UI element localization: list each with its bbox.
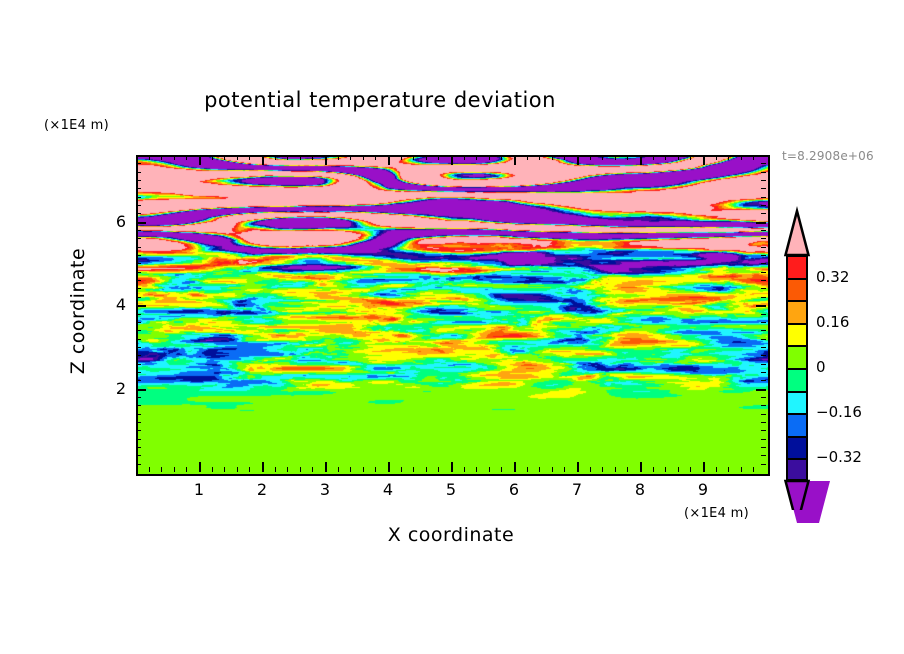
axis-tick — [136, 205, 141, 206]
axis-tick — [186, 467, 187, 472]
page-title: potential temperature deviation — [0, 88, 760, 112]
axis-tick — [761, 430, 766, 431]
y-axis-title: Z coordinate — [67, 211, 89, 411]
axis-tick — [136, 172, 141, 173]
axis-tick — [690, 155, 691, 160]
axis-tick — [136, 180, 141, 181]
axis-tick — [426, 467, 427, 472]
axis-tick — [476, 467, 477, 472]
axis-tick — [741, 155, 742, 160]
axis-tick — [728, 155, 729, 160]
x-axis-title: X coordinate — [271, 524, 631, 546]
axis-tick — [325, 462, 327, 472]
axis-tick — [761, 422, 766, 423]
axis-tick — [761, 314, 766, 315]
axis-tick — [136, 447, 141, 448]
axis-tick — [136, 380, 141, 381]
x-axis-unit-label: (×1E4 m) — [684, 506, 749, 521]
axis-tick — [653, 155, 654, 160]
axis-tick — [262, 462, 264, 472]
axis-tick — [476, 155, 477, 160]
axis-tick — [602, 155, 603, 160]
axis-tick — [761, 397, 766, 398]
axis-tick — [741, 467, 742, 472]
axis-tick — [761, 439, 766, 440]
axis-tick — [363, 155, 364, 160]
axis-tick — [761, 347, 766, 348]
axis-tick — [136, 197, 141, 198]
axis-tick — [161, 467, 162, 472]
axis-tick — [703, 462, 705, 472]
axis-tick — [577, 155, 579, 165]
axis-tick — [149, 467, 150, 472]
y-tick-label: 2 — [96, 379, 126, 398]
axis-tick — [224, 155, 225, 160]
axis-tick — [426, 155, 427, 160]
axis-tick — [186, 155, 187, 160]
axis-tick — [501, 155, 502, 160]
y-tick-label: 4 — [96, 295, 126, 314]
axis-tick — [761, 355, 766, 356]
axis-tick — [627, 467, 628, 472]
axis-tick — [338, 467, 339, 472]
axis-tick — [539, 467, 540, 472]
axis-tick — [590, 467, 591, 472]
axis-tick — [237, 155, 238, 160]
axis-tick — [262, 155, 264, 165]
axis-tick — [136, 322, 141, 323]
axis-tick — [761, 205, 766, 206]
axis-tick — [136, 397, 141, 398]
contour-field-canvas — [138, 157, 768, 474]
axis-tick — [275, 155, 276, 160]
axis-tick — [350, 155, 351, 160]
axis-tick — [514, 155, 516, 165]
axis-tick — [199, 462, 201, 472]
x-tick-label: 4 — [373, 480, 403, 499]
axis-tick — [665, 467, 666, 472]
axis-tick — [761, 230, 766, 231]
axis-tick — [287, 467, 288, 472]
colorbar-label: 0.16 — [816, 313, 849, 331]
axis-tick — [300, 155, 301, 160]
axis-tick — [761, 263, 766, 264]
x-tick-label: 7 — [562, 480, 592, 499]
timestamp-annotation: t=8.2908e+06 — [782, 149, 874, 163]
axis-tick — [136, 297, 141, 298]
axis-tick — [136, 222, 146, 224]
y-tick-label: 6 — [96, 212, 126, 231]
axis-tick — [136, 263, 141, 264]
axis-tick — [761, 464, 766, 465]
y-axis-unit-label: (×1E4 m) — [44, 118, 109, 133]
axis-tick — [761, 372, 766, 373]
axis-tick — [756, 222, 766, 224]
axis-tick — [761, 172, 766, 173]
x-tick-label: 9 — [688, 480, 718, 499]
axis-tick — [527, 467, 528, 472]
axis-tick — [602, 467, 603, 472]
axis-tick — [756, 389, 766, 391]
axis-tick — [136, 255, 141, 256]
axis-tick — [464, 467, 465, 472]
axis-tick — [753, 467, 754, 472]
axis-tick — [136, 272, 141, 273]
axis-tick — [388, 462, 390, 472]
axis-tick — [136, 464, 141, 465]
axis-tick — [338, 155, 339, 160]
axis-tick — [451, 155, 453, 165]
axis-tick — [761, 297, 766, 298]
axis-tick — [136, 339, 141, 340]
axis-tick — [615, 467, 616, 472]
axis-tick — [761, 405, 766, 406]
axis-tick — [678, 155, 679, 160]
axis-tick — [761, 280, 766, 281]
axis-tick — [401, 155, 402, 160]
x-tick-label: 8 — [625, 480, 655, 499]
axis-tick — [413, 155, 414, 160]
axis-tick — [136, 439, 141, 440]
axis-tick — [761, 197, 766, 198]
axis-tick — [375, 155, 376, 160]
axis-tick — [552, 467, 553, 472]
axis-tick — [464, 155, 465, 160]
colorbar-label: −0.16 — [816, 403, 862, 421]
axis-tick — [756, 305, 766, 307]
axis-tick — [136, 455, 141, 456]
axis-tick — [136, 422, 141, 423]
axis-tick — [564, 155, 565, 160]
axis-tick — [275, 467, 276, 472]
axis-tick — [249, 467, 250, 472]
axis-tick — [136, 163, 141, 164]
axis-tick — [761, 364, 766, 365]
axis-tick — [249, 155, 250, 160]
axis-tick — [174, 155, 175, 160]
axis-tick — [653, 467, 654, 472]
x-tick-label: 1 — [184, 480, 214, 499]
axis-tick — [761, 455, 766, 456]
axis-tick — [136, 389, 146, 391]
axis-tick — [136, 414, 141, 415]
axis-tick — [690, 467, 691, 472]
colorbar-outline — [780, 198, 820, 510]
axis-tick — [716, 467, 717, 472]
axis-tick — [300, 467, 301, 472]
axis-tick — [149, 155, 150, 160]
axis-tick — [136, 230, 141, 231]
axis-tick — [325, 155, 327, 165]
axis-tick — [136, 305, 146, 307]
axis-tick — [161, 155, 162, 160]
axis-tick — [136, 330, 141, 331]
axis-tick — [136, 372, 141, 373]
axis-tick — [761, 380, 766, 381]
axis-tick — [577, 462, 579, 472]
axis-tick — [438, 155, 439, 160]
axis-tick — [761, 238, 766, 239]
axis-tick — [136, 364, 141, 365]
axis-tick — [761, 288, 766, 289]
axis-tick — [388, 155, 390, 165]
axis-tick — [590, 155, 591, 160]
axis-tick — [136, 347, 141, 348]
axis-tick — [136, 238, 141, 239]
axis-tick — [451, 462, 453, 472]
axis-tick — [413, 467, 414, 472]
axis-tick — [761, 180, 766, 181]
colorbar-label: −0.32 — [816, 448, 862, 466]
axis-tick — [552, 155, 553, 160]
axis-tick — [753, 155, 754, 160]
axis-tick — [224, 467, 225, 472]
axis-tick — [527, 155, 528, 160]
axis-tick — [761, 447, 766, 448]
axis-tick — [761, 247, 766, 248]
axis-tick — [564, 467, 565, 472]
axis-tick — [375, 467, 376, 472]
axis-tick — [237, 467, 238, 472]
axis-tick — [728, 467, 729, 472]
axis-tick — [136, 430, 141, 431]
axis-tick — [665, 155, 666, 160]
axis-tick — [136, 314, 141, 315]
axis-tick — [212, 467, 213, 472]
axis-tick — [312, 467, 313, 472]
axis-tick — [761, 330, 766, 331]
axis-tick — [136, 188, 141, 189]
axis-tick — [312, 155, 313, 160]
axis-tick — [136, 280, 141, 281]
axis-tick — [703, 155, 705, 165]
axis-tick — [539, 155, 540, 160]
colorbar-label: 0.32 — [816, 268, 849, 286]
axis-tick — [401, 467, 402, 472]
colorbar: 0.320.160−0.16−0.32 — [780, 198, 900, 510]
axis-tick — [489, 467, 490, 472]
axis-tick — [761, 322, 766, 323]
axis-tick — [761, 414, 766, 415]
x-tick-label: 6 — [499, 480, 529, 499]
x-tick-label: 3 — [310, 480, 340, 499]
axis-tick — [501, 467, 502, 472]
axis-tick — [363, 467, 364, 472]
axis-tick — [640, 462, 642, 472]
axis-tick — [174, 467, 175, 472]
axis-tick — [761, 272, 766, 273]
axis-tick — [716, 155, 717, 160]
x-tick-label: 5 — [436, 480, 466, 499]
axis-tick — [136, 355, 141, 356]
axis-tick — [438, 467, 439, 472]
axis-tick — [627, 155, 628, 160]
axis-tick — [514, 462, 516, 472]
axis-tick — [199, 155, 201, 165]
axis-tick — [136, 247, 141, 248]
contour-plot-area — [136, 155, 770, 476]
axis-tick — [350, 467, 351, 472]
axis-tick — [136, 213, 141, 214]
axis-tick — [136, 405, 141, 406]
axis-tick — [761, 188, 766, 189]
axis-tick — [489, 155, 490, 160]
axis-tick — [615, 155, 616, 160]
axis-tick — [212, 155, 213, 160]
axis-tick — [761, 339, 766, 340]
axis-tick — [640, 155, 642, 165]
axis-tick — [761, 255, 766, 256]
axis-tick — [761, 163, 766, 164]
axis-tick — [287, 155, 288, 160]
axis-tick — [136, 288, 141, 289]
axis-tick — [678, 467, 679, 472]
axis-tick — [761, 213, 766, 214]
x-tick-label: 2 — [247, 480, 277, 499]
